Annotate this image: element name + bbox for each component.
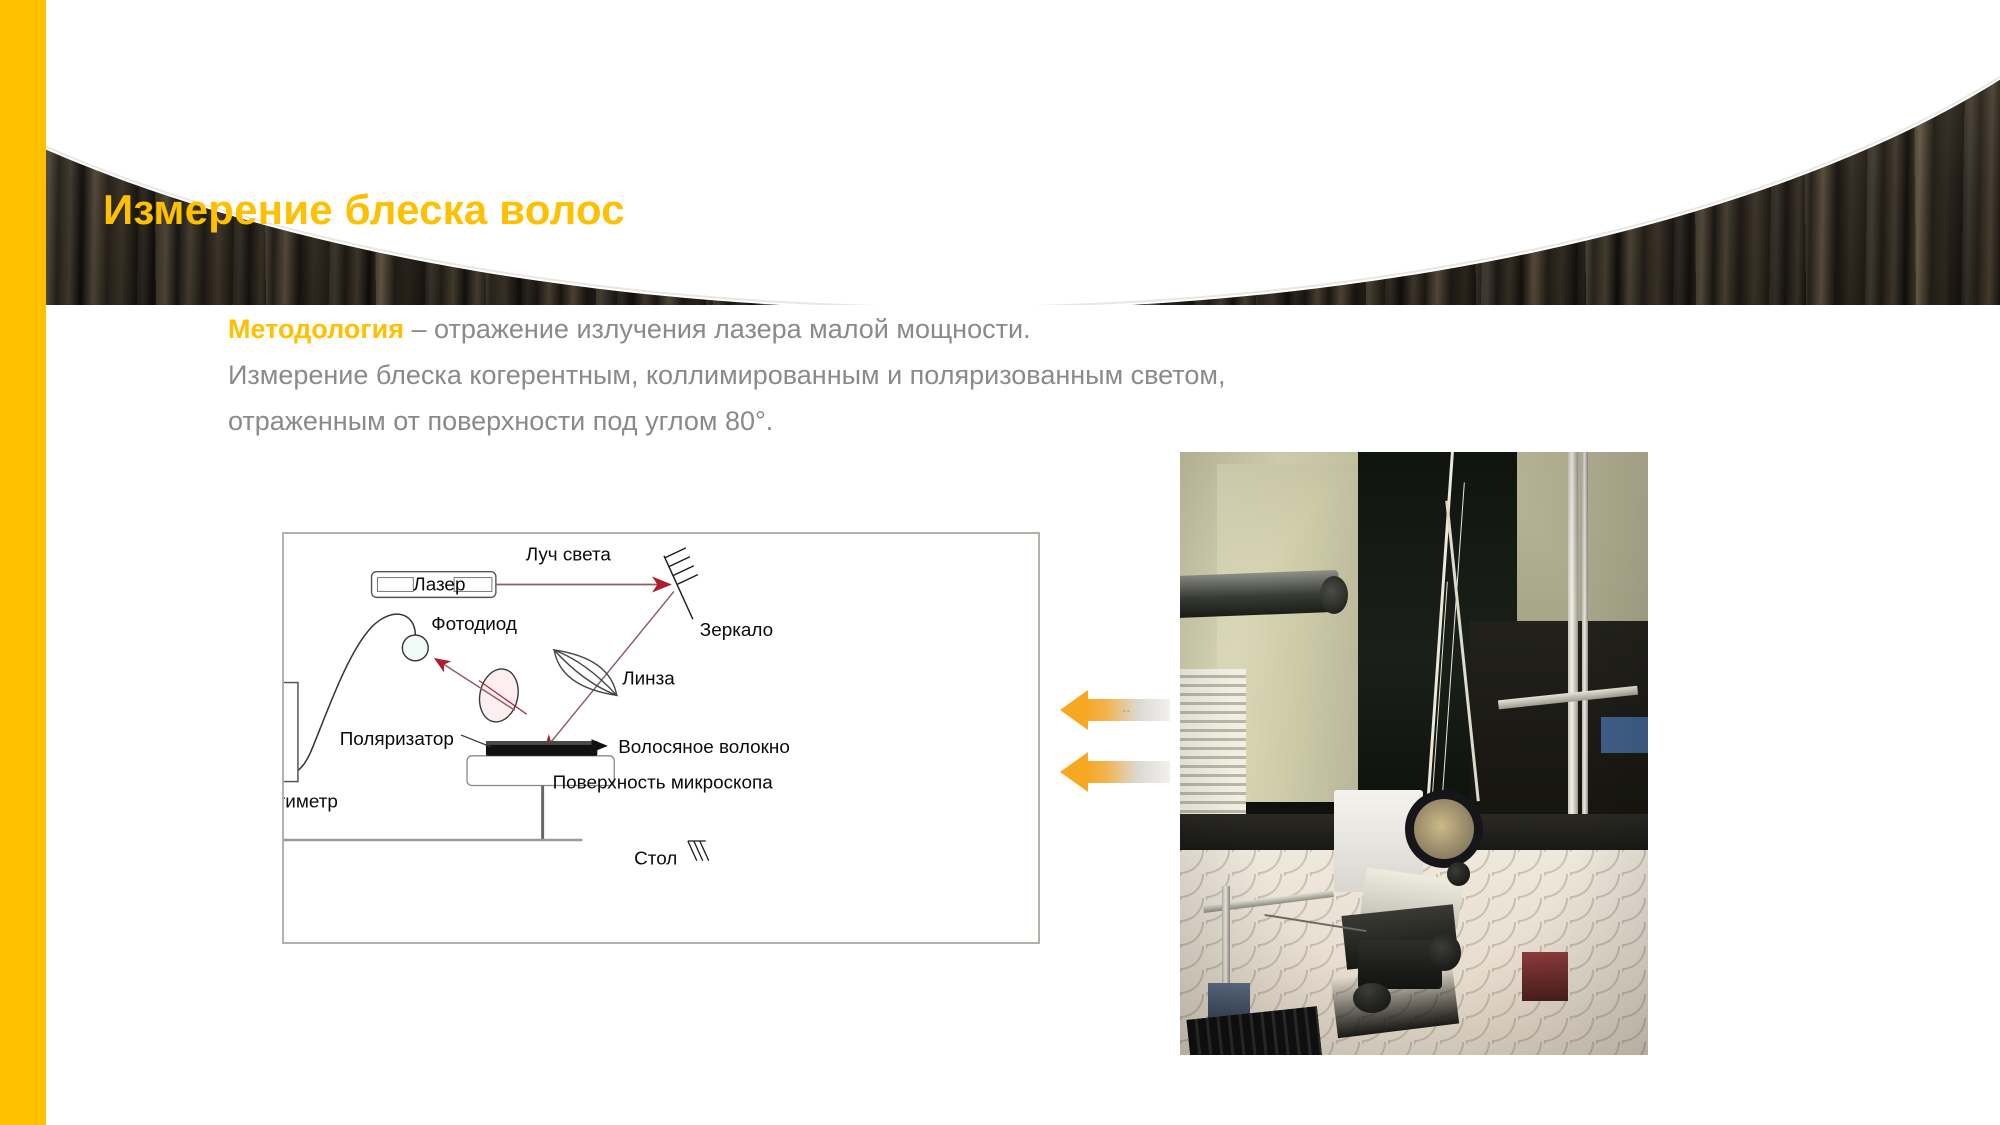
body-line-1-rest: – отражение излучения лазера малой мощно…: [404, 314, 1031, 344]
photo-vignette: [1180, 452, 1648, 1055]
arrow-tail: [1086, 761, 1170, 783]
label-table: Стол: [634, 848, 677, 869]
body-line-2: Измерение блеска когерентным, коллимиров…: [228, 352, 1528, 398]
laser-module: Лазер: [372, 572, 496, 598]
polarizer-leader: [461, 735, 491, 747]
body-line-3: отраженным от поверхности под углом 80°.: [228, 398, 1528, 444]
table-hatch-icon: [688, 841, 709, 861]
header-banner: [46, 0, 2000, 305]
photodiode-element: [402, 635, 428, 661]
body-line-1: Методология – отражение излучения лазера…: [228, 306, 1528, 352]
body-copy: Методология – отражение излучения лазера…: [228, 306, 1528, 444]
arrow-left-icon: [1060, 690, 1088, 730]
label-microscope-surface: Поверхность микроскопа: [553, 772, 774, 793]
diagram-svg: Лазер Луч света Зеркало Линза: [284, 534, 1038, 942]
arrow-left-icon: [1060, 752, 1088, 792]
label-light-beam: Луч света: [526, 544, 612, 565]
arrow-glyph: ↔: [1120, 702, 1131, 716]
optical-setup-diagram: Лазер Луч света Зеркало Линза: [282, 532, 1040, 944]
page-title: Измерение блеска волос: [103, 186, 625, 234]
label-multimeter: Мультиметр: [284, 790, 338, 811]
label-lens: Линза: [622, 668, 675, 689]
label-mirror: Зеркало: [700, 619, 773, 640]
label-laser: Лазер: [413, 573, 465, 594]
connector-arrow-1: ↔: [1060, 690, 1170, 730]
body-lead: Методология: [228, 314, 404, 344]
left-accent-bar: [0, 0, 46, 1125]
beam-mirror-to-sample-a: [570, 591, 673, 718]
connector-arrows: ↔: [1060, 690, 1170, 810]
label-photodiode: Фотодиод: [431, 613, 517, 634]
mirror-element: [664, 548, 698, 619]
connector-arrow-2: [1060, 752, 1170, 792]
lab-setup-photo: [1180, 452, 1648, 1055]
slide-canvas: Измерение блеска волос Методология – отр…: [0, 0, 2000, 1125]
multimeter-device: [284, 683, 298, 782]
polarizer-element: [475, 665, 527, 725]
photodiode-wire: [284, 614, 415, 776]
label-hair-fiber: Волосяное волокно: [618, 736, 790, 757]
label-polarizer: Поляризатор: [340, 728, 454, 749]
